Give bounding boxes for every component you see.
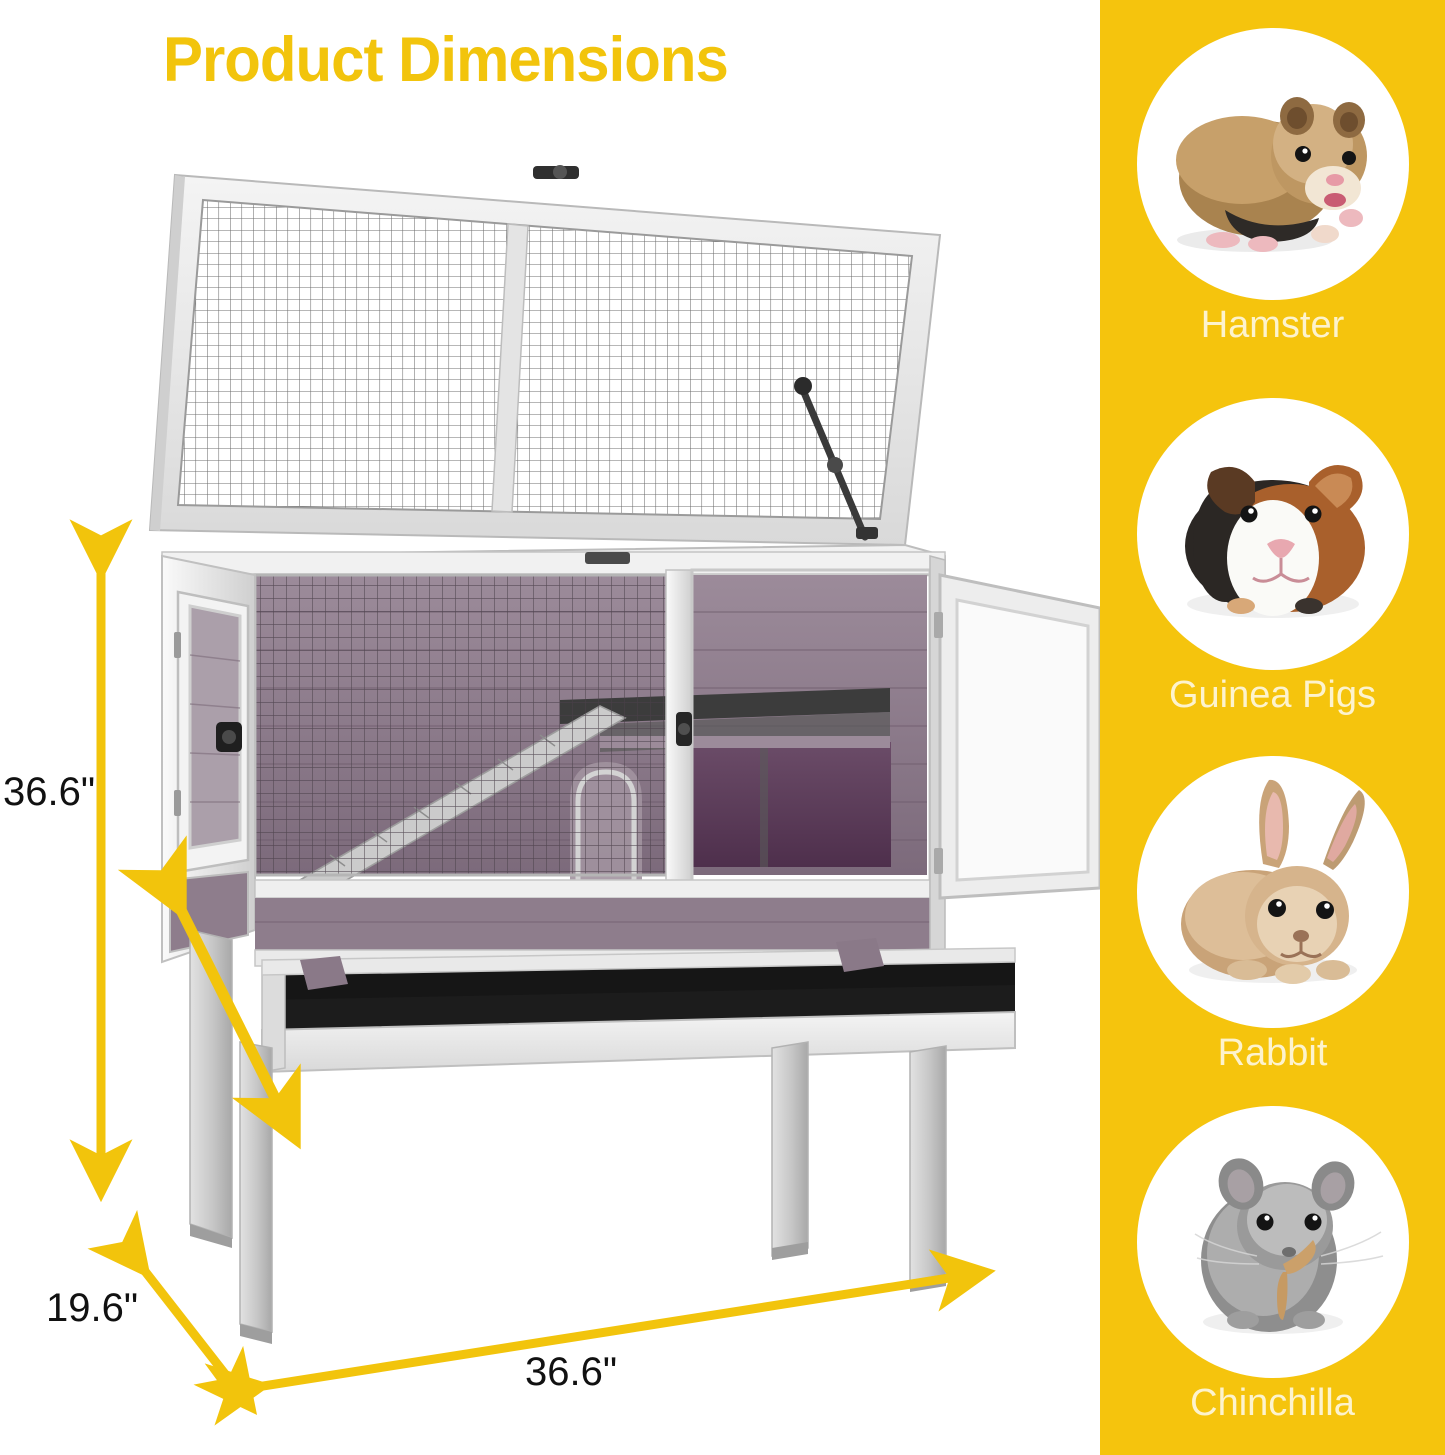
height-dimension-label: 36.6" xyxy=(3,770,95,815)
tray-stop-left xyxy=(300,956,348,990)
animal-sidebar: Hamster xyxy=(1100,0,1445,1455)
tray-stop-right xyxy=(836,938,884,972)
side-door-latch-icon xyxy=(216,722,242,752)
product-illustration xyxy=(0,0,1100,1455)
side-panel-left xyxy=(162,556,255,962)
hutch-body xyxy=(162,545,1100,1344)
depth-dimension-label: 19.6" xyxy=(46,1286,138,1331)
sidebar-label-rabbit: Rabbit xyxy=(1100,1032,1445,1075)
lid-hinge-icon xyxy=(585,552,630,564)
sidebar-label-guinea-pigs: Guinea Pigs xyxy=(1100,674,1445,717)
sidebar-item-hamster[interactable]: Hamster xyxy=(1100,28,1445,347)
pull-out-tray[interactable] xyxy=(262,938,1015,1072)
guinea-pig-photo-circle xyxy=(1137,398,1409,670)
guinea-pig-icon xyxy=(1137,398,1409,670)
rabbit-photo-circle xyxy=(1137,756,1409,1028)
front-door[interactable] xyxy=(934,575,1100,898)
lid-latch-icon xyxy=(533,165,579,179)
width-dimension-label: 36.6" xyxy=(525,1350,617,1395)
hamster-photo-circle xyxy=(1137,28,1409,300)
chinchilla-photo-circle xyxy=(1137,1106,1409,1378)
chinchilla-icon xyxy=(1137,1106,1409,1378)
sidebar-item-guinea-pigs[interactable]: Guinea Pigs xyxy=(1100,398,1445,717)
side-door[interactable] xyxy=(174,592,248,872)
infographic-page: Product Dimensions xyxy=(0,0,1445,1455)
lower-compartment xyxy=(686,742,891,867)
hamster-icon xyxy=(1137,28,1409,300)
sidebar-label-hamster: Hamster xyxy=(1100,304,1445,347)
sidebar-label-chinchilla: Chinchilla xyxy=(1100,1382,1445,1425)
rabbit-icon xyxy=(1137,756,1409,1028)
sidebar-item-chinchilla[interactable]: Chinchilla xyxy=(1100,1106,1445,1425)
hinged-mesh-lid[interactable] xyxy=(150,165,940,545)
sidebar-item-rabbit[interactable]: Rabbit xyxy=(1100,756,1445,1075)
wire-mesh-front xyxy=(255,575,670,875)
front-door-latch-icon xyxy=(676,712,692,746)
